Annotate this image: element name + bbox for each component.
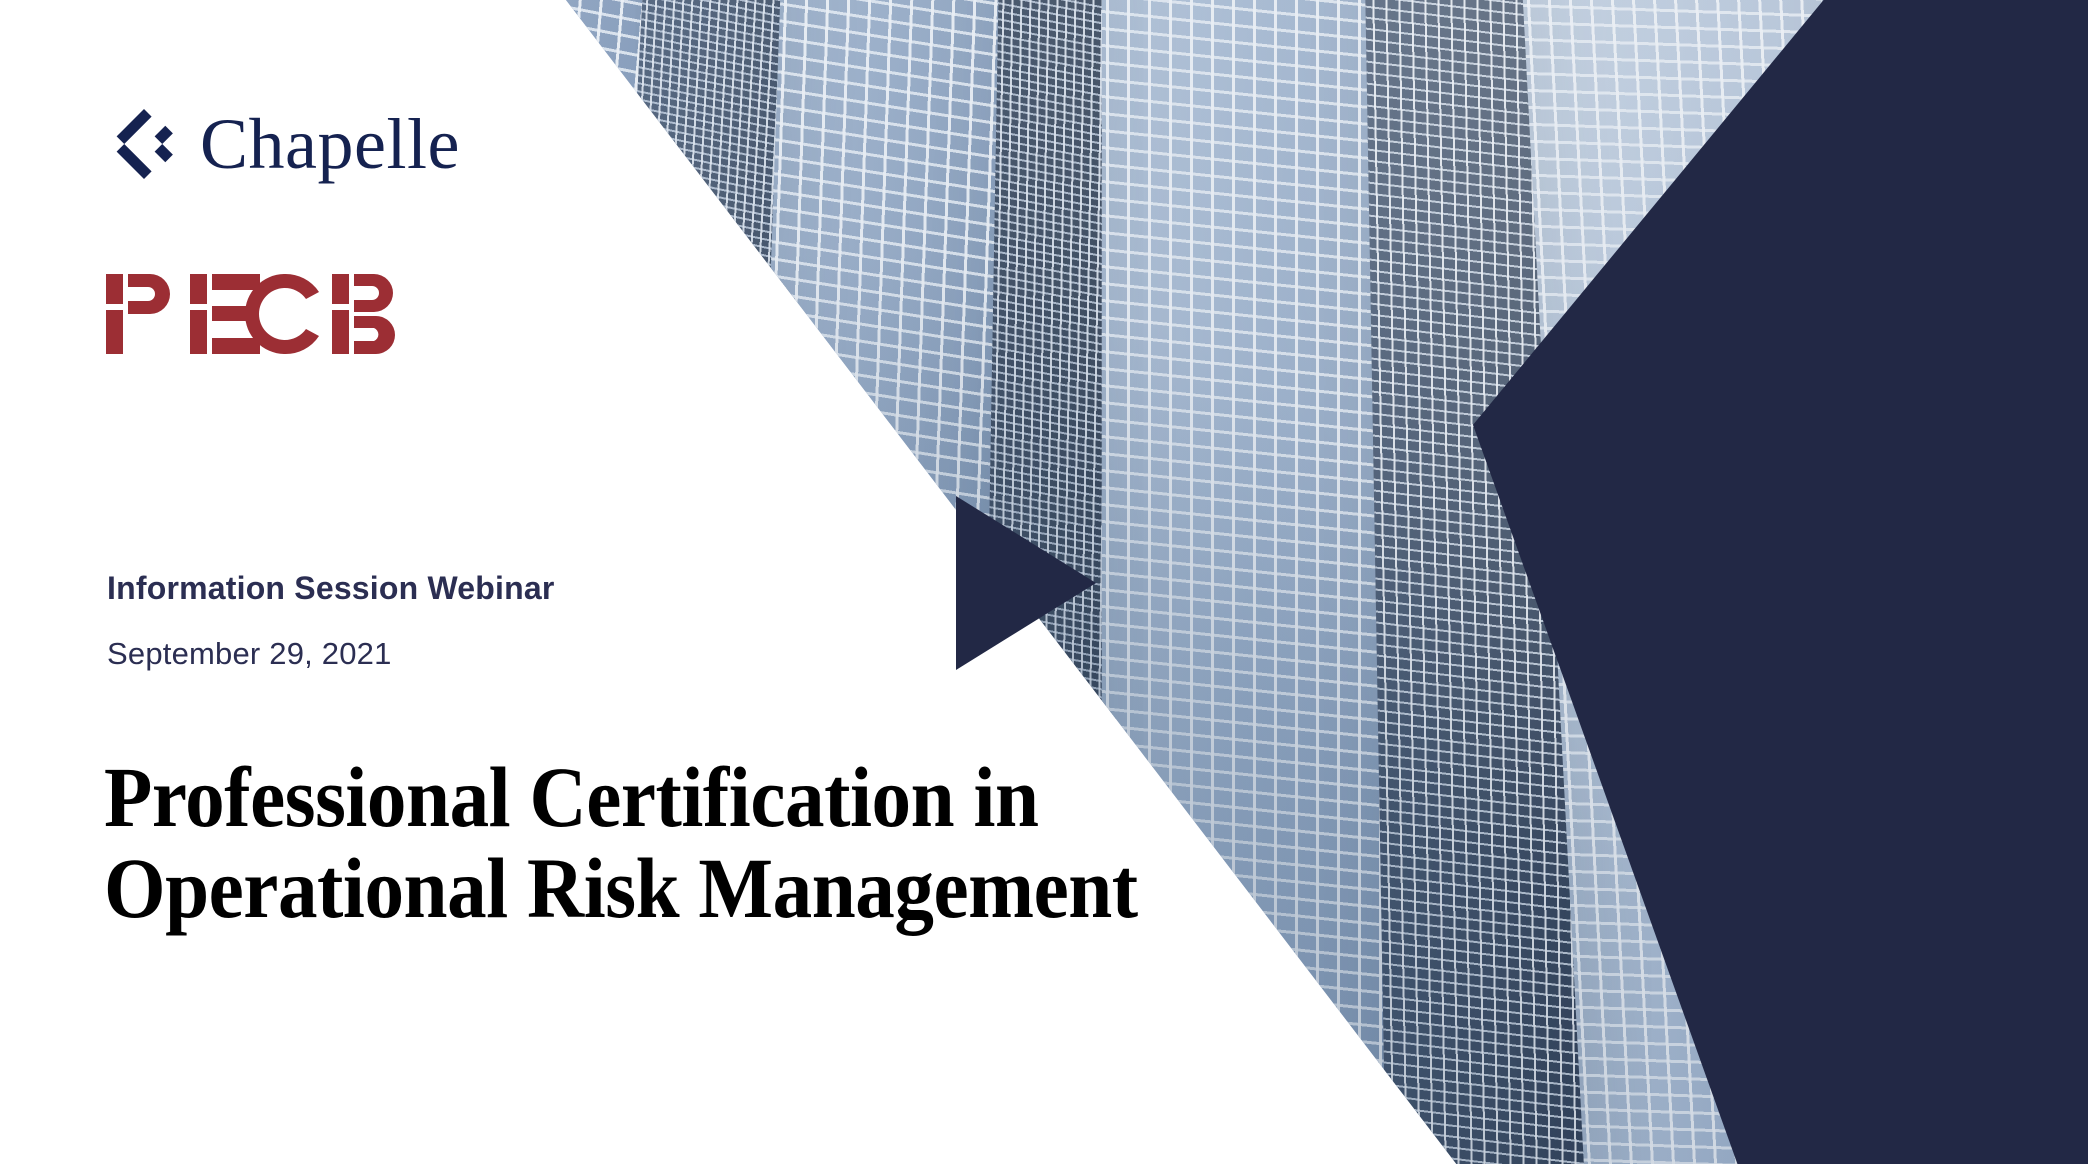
event-name: Information Session Webinar: [107, 570, 555, 607]
title-slide: Chapelle: [0, 0, 2088, 1164]
play-triangle-icon: [956, 496, 1096, 670]
event-date: September 29, 2021: [107, 636, 392, 672]
building-facade: [1102, 0, 1402, 1164]
slide-content: Chapelle: [0, 0, 720, 1164]
page-title: Professional Certification in Operationa…: [104, 752, 1318, 934]
page-title-line-1: Professional Certification in: [104, 752, 1318, 843]
pecb-logo: [104, 272, 404, 356]
page-title-line-2: Operational Risk Management: [104, 843, 1318, 934]
chapelle-logo: Chapelle: [106, 106, 460, 182]
chapelle-wordmark: Chapelle: [200, 108, 460, 180]
pecb-wordmark-icon: [104, 272, 404, 356]
chapelle-diamond-icon: [106, 106, 182, 182]
